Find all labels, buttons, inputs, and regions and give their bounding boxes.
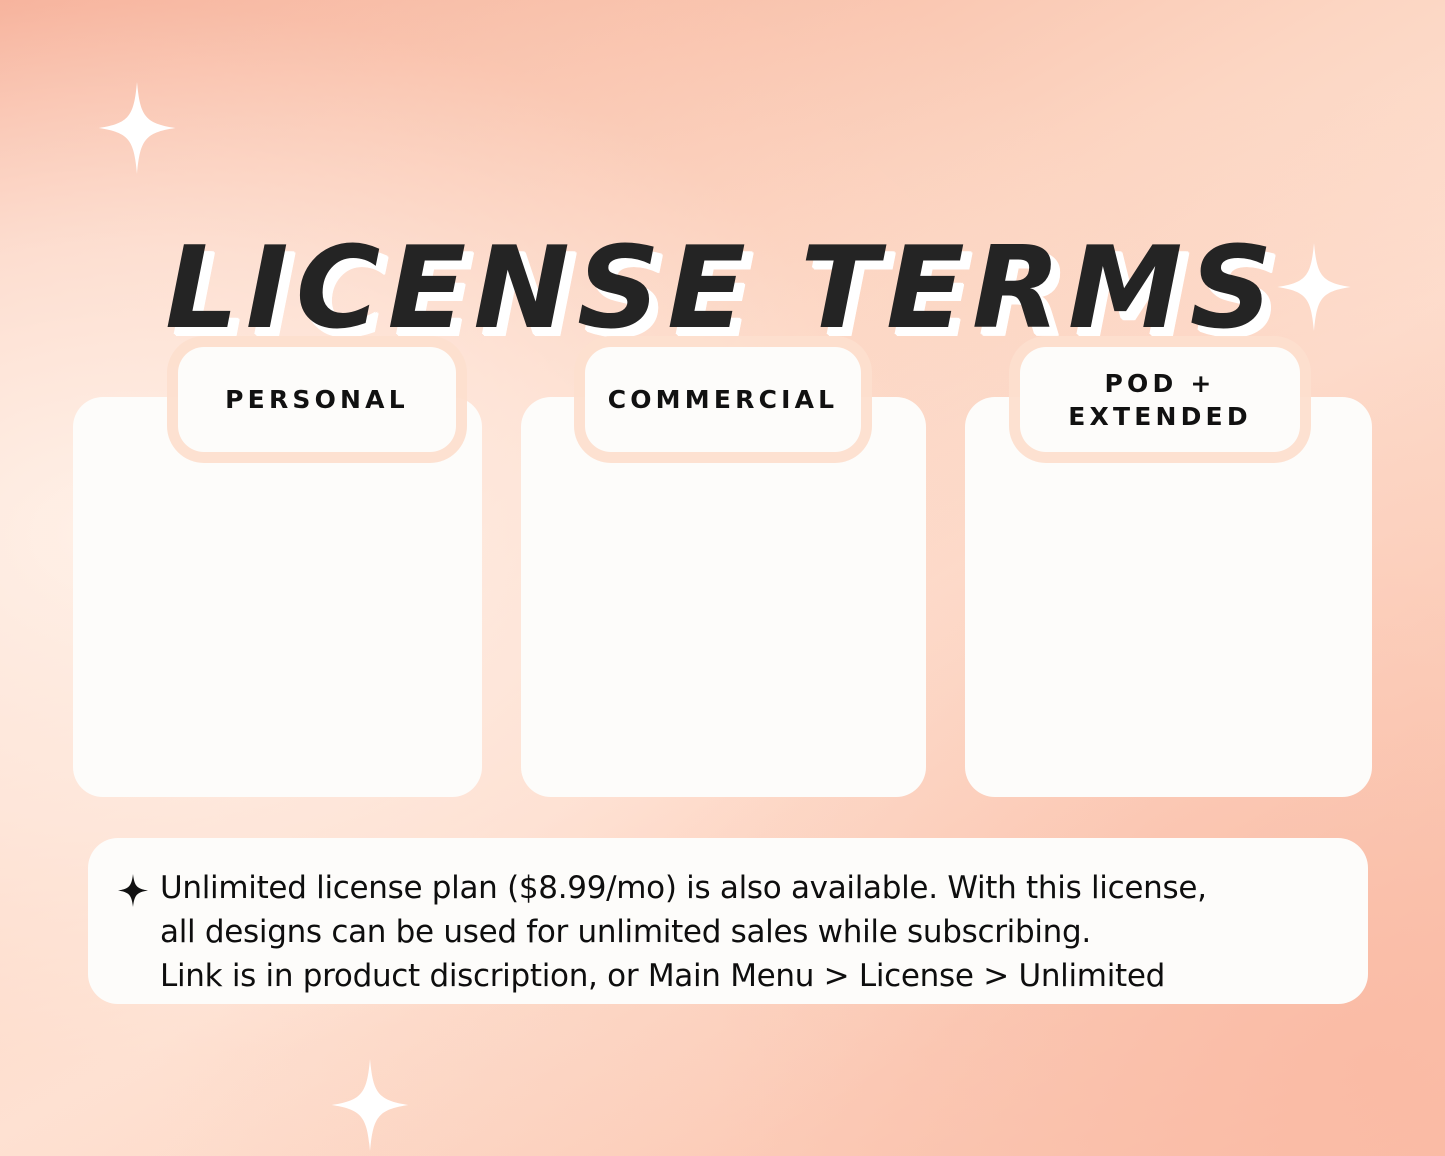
tier-heading-label: POD + EXTENDED bbox=[1068, 367, 1252, 433]
tier-header-commercial: COMMERCIAL bbox=[585, 347, 861, 452]
page-title: LICENSE TERMS bbox=[0, 222, 1445, 354]
sparkle-bullet-icon bbox=[118, 866, 152, 907]
license-tier-group: PERSONAL All of our listings are for per… bbox=[73, 347, 1372, 797]
license-terms-poster: LICENSE TERMS PERSONAL All of our listin… bbox=[0, 0, 1445, 1156]
license-tier-personal: PERSONAL All of our listings are for per… bbox=[73, 347, 482, 797]
tier-card-body bbox=[73, 397, 482, 797]
tier-heading-label: PERSONAL bbox=[225, 383, 409, 416]
banner-text: Unlimited license plan ($8.99/mo) is als… bbox=[160, 866, 1207, 998]
tier-header-personal: PERSONAL bbox=[178, 347, 456, 452]
tier-card-body bbox=[521, 397, 926, 797]
sparkle-icon bbox=[331, 1059, 409, 1151]
unlimited-plan-banner: Unlimited license plan ($8.99/mo) is als… bbox=[88, 838, 1368, 1004]
tier-card-body bbox=[965, 397, 1372, 797]
banner-content: Unlimited license plan ($8.99/mo) is als… bbox=[88, 838, 1368, 998]
tier-heading-label: COMMERCIAL bbox=[608, 383, 839, 416]
sparkle-icon bbox=[98, 82, 176, 174]
tier-header-pod-extended: POD + EXTENDED bbox=[1020, 347, 1300, 452]
license-tier-commercial: COMMERCIAL Up to 1000 unit sales, per de… bbox=[521, 347, 926, 797]
license-tier-pod-extended: POD + EXTENDED 1000+ unit sales, & POD u… bbox=[965, 347, 1372, 797]
